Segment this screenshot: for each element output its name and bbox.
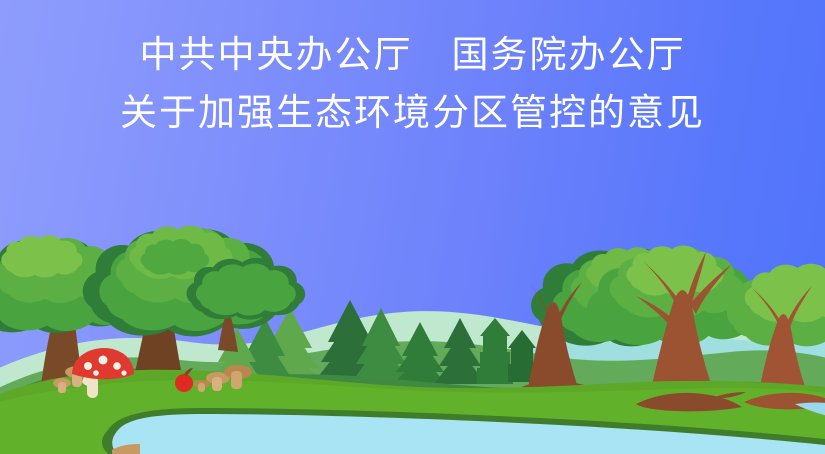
page-title: 中共中央办公厅 国务院办公厅 关于加强生态环境分区管控的意见 (0, 26, 825, 142)
deciduous-tree-right-group (520, 245, 825, 403)
article-hero-banner: 中共中央办公厅 国务院办公厅 关于加强生态环境分区管控的意见 (0, 0, 825, 454)
title-line-2: 关于加强生态环境分区管控的意见 (0, 84, 825, 142)
tree-roots-right (636, 392, 825, 411)
title-line-1: 中共中央办公厅 国务院办公厅 (0, 26, 825, 84)
